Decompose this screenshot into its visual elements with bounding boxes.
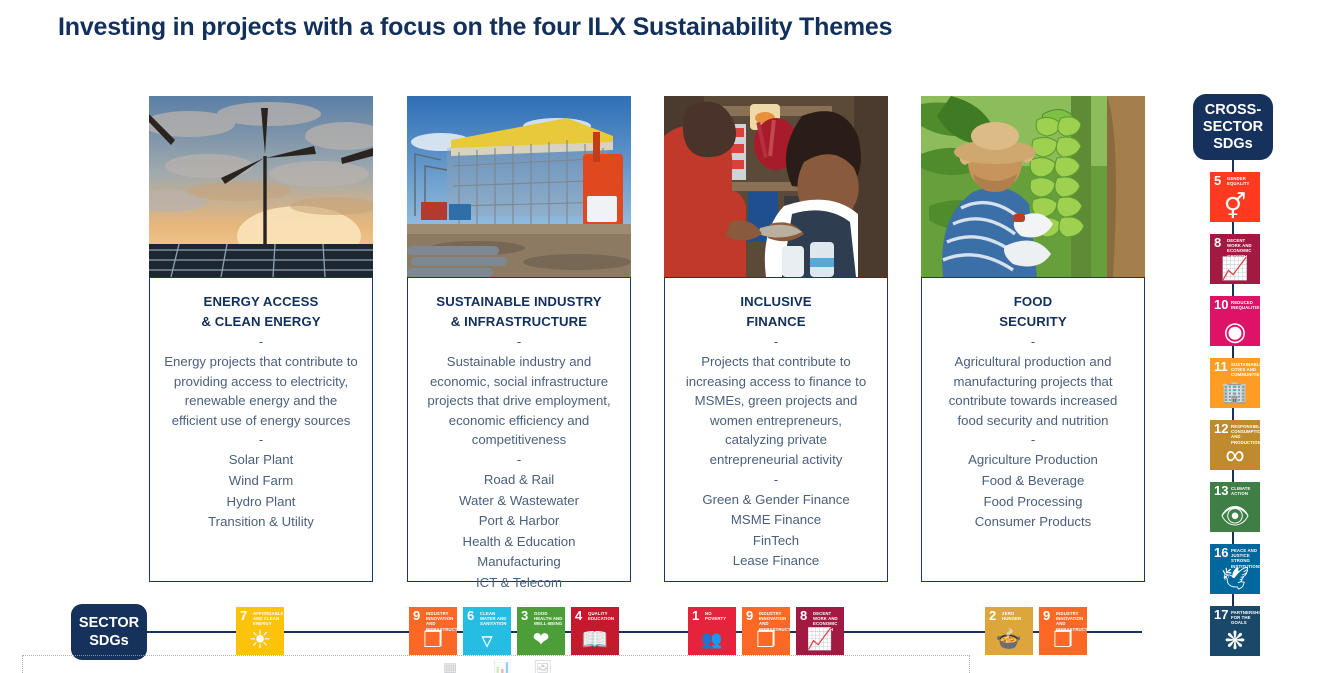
sdg-number: 3 bbox=[521, 610, 528, 622]
theme-subsector: Transition & Utility bbox=[160, 512, 362, 533]
sdg-number: 17 bbox=[1214, 609, 1228, 621]
separator-dash: - bbox=[160, 430, 362, 450]
content-placeholder-box: ▦ 📊 🖼 bbox=[22, 655, 970, 673]
sdg-number: 12 bbox=[1214, 423, 1228, 435]
theme-photo-energy-access bbox=[149, 96, 373, 277]
sector-sdgs-badge: SECTOR SDGs bbox=[71, 604, 147, 660]
theme-title-line-1: FOOD bbox=[932, 292, 1134, 312]
theme-photo-sustainable-industry bbox=[407, 96, 631, 277]
separator-dash: - bbox=[932, 332, 1134, 352]
separator-dash: - bbox=[160, 332, 362, 352]
separator-dash: - bbox=[418, 332, 620, 352]
theme-title-line-1: SUSTAINABLE INDUSTRY bbox=[418, 292, 620, 312]
theme-subsector: Wind Farm bbox=[160, 471, 362, 492]
theme-title-line-2: SECURITY bbox=[932, 312, 1134, 332]
cross-badge-line-2: SECTOR bbox=[1203, 119, 1263, 136]
theme-subsector: ICT & Telecom bbox=[418, 573, 620, 594]
sdg-label: GENDER EQUALITY bbox=[1227, 176, 1258, 186]
sector-sdg-group-finance: 1 NO POVERTY 👥 9 INDUSTRY INNOVATION AND… bbox=[688, 607, 844, 655]
venus-mars-equal-icon: ⚥ bbox=[1210, 194, 1260, 220]
water-drop-arrow-icon: ▿ bbox=[463, 627, 511, 653]
picture-icon: 🖼 bbox=[533, 659, 552, 673]
open-book-icon: 📖 bbox=[571, 627, 619, 653]
growth-chart-icon: 📈 bbox=[796, 627, 844, 653]
theme-column-inclusive-finance: INCLUSIVE FINANCE - Projects that contri… bbox=[664, 96, 888, 582]
sdg-label: AFFORDABLE AND CLEAN ENERGY bbox=[253, 611, 282, 627]
sdg-number: 7 bbox=[240, 610, 247, 622]
theme-subsector: Food Processing bbox=[932, 492, 1134, 513]
separator-dash: - bbox=[932, 430, 1134, 450]
theme-card-sustainable-industry: SUSTAINABLE INDUSTRY & INFRASTRUCTURE - … bbox=[407, 277, 631, 582]
cross-sector-sdg-column: 5 GENDER EQUALITY ⚥ 8 DECENT WORK AND EC… bbox=[1210, 172, 1260, 656]
theme-card-food-security: FOOD SECURITY - Agricultural production … bbox=[921, 277, 1145, 582]
sdg-tile-5[interactable]: 5 GENDER EQUALITY ⚥ bbox=[1210, 172, 1260, 222]
sdg-number: 10 bbox=[1214, 299, 1228, 311]
sdg-tile-9[interactable]: 9 INDUSTRY INNOVATION AND INFRASTRUCTURE… bbox=[1039, 607, 1087, 655]
theme-column-sustainable-industry: SUSTAINABLE INDUSTRY & INFRASTRUCTURE - … bbox=[407, 96, 631, 582]
theme-card-inclusive-finance: INCLUSIVE FINANCE - Projects that contri… bbox=[664, 277, 888, 582]
cubes-icon: ❐ bbox=[1039, 627, 1087, 653]
separator-dash: - bbox=[418, 450, 620, 470]
theme-subsector: Road & Rail bbox=[418, 470, 620, 491]
sdg-label: SUSTAINABLE CITIES AND COMMUNITIES bbox=[1231, 362, 1258, 378]
sdg-tile-8[interactable]: 8 DECENT WORK AND ECONOMIC GROWTH 📈 bbox=[796, 607, 844, 655]
theme-photo-inclusive-finance bbox=[664, 96, 888, 277]
sdg-tile-10[interactable]: 10 REDUCED INEQUALITIES ◉ bbox=[1210, 296, 1260, 346]
sdg-number: 11 bbox=[1214, 361, 1228, 373]
eye-earth-icon: 👁 bbox=[1210, 504, 1260, 530]
sdg-number: 2 bbox=[989, 610, 996, 622]
theme-subsector: Agriculture Production bbox=[932, 450, 1134, 471]
sdg-label: ZERO HUNGER bbox=[1002, 611, 1031, 621]
sdg-number: 8 bbox=[1214, 237, 1221, 249]
theme-subsector: Port & Harbor bbox=[418, 511, 620, 532]
steaming-bowl-icon: 🍲 bbox=[985, 627, 1033, 653]
theme-title-line-1: ENERGY ACCESS bbox=[160, 292, 362, 312]
sdg-label: CLIMATE ACTION bbox=[1231, 486, 1258, 496]
dove-gavel-icon: 🕊 bbox=[1210, 566, 1260, 592]
sdg-number: 4 bbox=[575, 610, 582, 622]
separator-dash: - bbox=[675, 470, 877, 490]
theme-subsector: Food & Beverage bbox=[932, 471, 1134, 492]
sun-icon: ☀ bbox=[236, 627, 284, 653]
theme-subsector: Solar Plant bbox=[160, 450, 362, 471]
people-group-icon: 👥 bbox=[688, 627, 736, 653]
sdg-label: GOOD HEALTH AND WELL-BEING bbox=[534, 611, 563, 627]
sdg-number: 13 bbox=[1214, 485, 1228, 497]
sdg-number: 9 bbox=[413, 610, 420, 622]
sdg-tile-9[interactable]: 9 INDUSTRY INNOVATION AND INFRASTRUCTURE… bbox=[742, 607, 790, 655]
theme-description: Agricultural production and manufacturin… bbox=[932, 352, 1134, 430]
theme-description: Energy projects that contribute to provi… bbox=[160, 352, 362, 430]
sdg-tile-3[interactable]: 3 GOOD HEALTH AND WELL-BEING ❤ bbox=[517, 607, 565, 655]
sdg-tile-17[interactable]: 17 PARTNERSHIPS FOR THE GOALS ❋ bbox=[1210, 606, 1260, 656]
sdg-tile-9[interactable]: 9 INDUSTRY INNOVATION AND INFRASTRUCTURE… bbox=[409, 607, 457, 655]
sdg-tile-7[interactable]: 7 AFFORDABLE AND CLEAN ENERGY ☀ bbox=[236, 607, 284, 655]
theme-subsector: Lease Finance bbox=[675, 551, 877, 572]
sdg-label: REDUCED INEQUALITIES bbox=[1231, 300, 1258, 310]
sector-badge-line-2: SDGs bbox=[79, 632, 139, 650]
theme-title-line-2: & CLEAN ENERGY bbox=[160, 312, 362, 332]
cubes-icon: ❐ bbox=[409, 627, 457, 653]
theme-description: Projects that contribute to increasing a… bbox=[675, 352, 877, 470]
sdg-tile-16[interactable]: 16 PEACE AND JUSTICE STRONG INSTITUTIONS… bbox=[1210, 544, 1260, 594]
sdg-tile-1[interactable]: 1 NO POVERTY 👥 bbox=[688, 607, 736, 655]
page-title: Investing in projects with a focus on th… bbox=[58, 13, 892, 42]
sdg-number: 16 bbox=[1214, 547, 1228, 559]
theme-subsector: MSME Finance bbox=[675, 510, 877, 531]
theme-subsector: Water & Wastewater bbox=[418, 491, 620, 512]
theme-title-line-2: & INFRASTRUCTURE bbox=[418, 312, 620, 332]
infinity-loop-icon: ∞ bbox=[1210, 442, 1260, 468]
theme-subsector: FinTech bbox=[675, 531, 877, 552]
slide-canvas: Investing in projects with a focus on th… bbox=[0, 0, 1328, 673]
sdg-number: 1 bbox=[692, 610, 699, 622]
sdg-number: 5 bbox=[1214, 175, 1221, 187]
sdg-number: 9 bbox=[746, 610, 753, 622]
table-icon: ▦ bbox=[443, 659, 457, 673]
chart-icon: 📊 bbox=[493, 659, 512, 673]
sdg-tile-11[interactable]: 11 SUSTAINABLE CITIES AND COMMUNITIES 🏢 bbox=[1210, 358, 1260, 408]
sdg-label: CLEAN WATER AND SANITATION bbox=[480, 611, 509, 627]
theme-card-energy-access: ENERGY ACCESS & CLEAN ENERGY - Energy pr… bbox=[149, 277, 373, 582]
sdg-label: PARTNERSHIPS FOR THE GOALS bbox=[1231, 610, 1258, 626]
theme-subsector: Hydro Plant bbox=[160, 492, 362, 513]
cubes-icon: ❐ bbox=[742, 627, 790, 653]
sdg-tile-4[interactable]: 4 QUALITY EDUCATION 📖 bbox=[571, 607, 619, 655]
sdg-tile-12[interactable]: 12 RESPONSIBLE CONSUMPTION AND PRODUCTIO… bbox=[1210, 420, 1260, 470]
sdg-number: 9 bbox=[1043, 610, 1050, 622]
equal-circle-icon: ◉ bbox=[1210, 318, 1260, 344]
sdg-tile-6[interactable]: 6 CLEAN WATER AND SANITATION ▿ bbox=[463, 607, 511, 655]
separator-dash: - bbox=[675, 332, 877, 352]
theme-subsector: Consumer Products bbox=[932, 512, 1134, 533]
theme-column-food-security: FOOD SECURITY - Agricultural production … bbox=[921, 96, 1145, 582]
sector-sdg-group-industry: 9 INDUSTRY INNOVATION AND INFRASTRUCTURE… bbox=[409, 607, 619, 655]
sdg-number: 8 bbox=[800, 610, 807, 622]
theme-subsector: Green & Gender Finance bbox=[675, 490, 877, 511]
sdg-number: 6 bbox=[467, 610, 474, 622]
theme-description: Sustainable industry and economic, socia… bbox=[418, 352, 620, 450]
sdg-tile-2[interactable]: 2 ZERO HUNGER 🍲 bbox=[985, 607, 1033, 655]
city-buildings-icon: 🏢 bbox=[1210, 380, 1260, 406]
sdg-tile-8[interactable]: 8 DECENT WORK AND ECONOMIC GROWTH 📈 bbox=[1210, 234, 1260, 284]
theme-subsector: Health & Education bbox=[418, 532, 620, 553]
cross-badge-line-1: CROSS- bbox=[1203, 102, 1263, 119]
interlocking-circles-icon: ❋ bbox=[1210, 628, 1260, 654]
cross-sector-sdgs-badge: CROSS- SECTOR SDGs bbox=[1193, 94, 1273, 160]
sector-badge-line-1: SECTOR bbox=[79, 614, 139, 632]
theme-column-energy-access: ENERGY ACCESS & CLEAN ENERGY - Energy pr… bbox=[149, 96, 373, 582]
theme-subsector: Manufacturing bbox=[418, 552, 620, 573]
sector-sdg-group-food: 2 ZERO HUNGER 🍲 9 INDUSTRY INNOVATION AN… bbox=[985, 607, 1087, 655]
sdg-tile-13[interactable]: 13 CLIMATE ACTION 👁 bbox=[1210, 482, 1260, 532]
theme-title-line-2: FINANCE bbox=[675, 312, 877, 332]
sdg-label: NO POVERTY bbox=[705, 611, 734, 621]
theme-photo-food-security bbox=[921, 96, 1145, 277]
sdg-label: QUALITY EDUCATION bbox=[588, 611, 617, 621]
cross-badge-line-3: SDGs bbox=[1203, 136, 1263, 153]
theme-title-line-1: INCLUSIVE bbox=[675, 292, 877, 312]
growth-chart-icon: 📈 bbox=[1210, 256, 1260, 282]
heartbeat-icon: ❤ bbox=[517, 627, 565, 653]
sector-sdg-group-energy: 7 AFFORDABLE AND CLEAN ENERGY ☀ bbox=[236, 607, 284, 655]
